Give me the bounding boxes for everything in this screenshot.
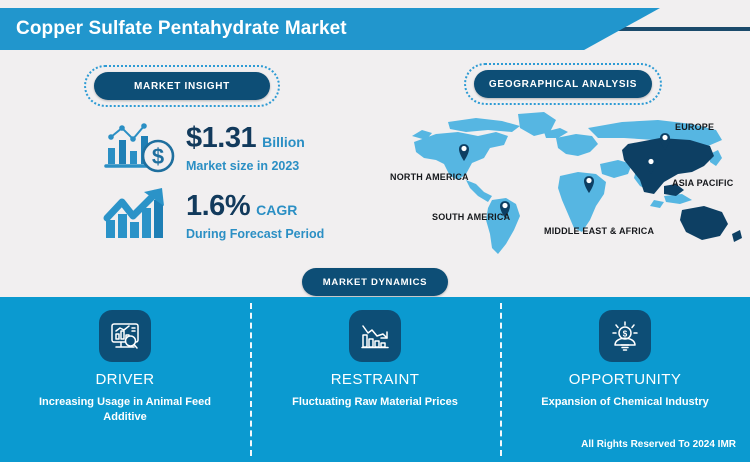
bar-chart-dollar-icon: $ <box>100 118 178 176</box>
footer-credit: All Rights Reserved To 2024 IMR <box>581 439 736 450</box>
geographical-analysis-pill: GEOGRAPHICAL ANALYSIS <box>474 70 652 98</box>
region-label-asia-pacific: ASIA PACIFIC <box>672 178 733 188</box>
geographical-analysis-header: GEOGRAPHICAL ANALYSIS <box>474 70 652 98</box>
restraint-title: RESTRAINT <box>331 371 420 388</box>
page-title: Copper Sulfate Pentahydrate Market <box>0 18 347 40</box>
market-insight-header: MARKET INSIGHT <box>94 72 270 100</box>
region-label-north-america: NORTH AMERICA <box>390 172 469 182</box>
svg-text:$: $ <box>623 330 628 339</box>
geographical-analysis-label: GEOGRAPHICAL ANALYSIS <box>489 79 637 90</box>
metric-cagr: 1.6% CAGR During Forecast Period <box>100 186 324 244</box>
cagr-caption: During Forecast Period <box>186 227 324 241</box>
market-size-caption: Market size in 2023 <box>186 159 305 173</box>
market-dynamics-label: MARKET DYNAMICS <box>323 277 427 288</box>
driver-title: DRIVER <box>95 371 154 388</box>
monitor-analysis-icon <box>99 310 151 362</box>
dynamics-column-driver: DRIVER Increasing Usage in Animal Feed A… <box>0 297 250 437</box>
restraint-description: Fluctuating Raw Material Prices <box>268 395 483 410</box>
market-insight-pill: MARKET INSIGHT <box>94 72 270 100</box>
market-size-unit: Billion <box>262 134 305 150</box>
dynamics-column-opportunity: $ OPPORTUNITY Expansion of Chemical Indu… <box>500 297 750 437</box>
growth-arrow-icon <box>100 186 178 244</box>
lightbulb-dollar-icon: $ <box>599 310 651 362</box>
market-size-value: $1.31 <box>186 122 256 155</box>
region-label-south-america: SOUTH AMERICA <box>432 212 510 222</box>
metric-cagr-text: 1.6% CAGR During Forecast Period <box>186 190 324 241</box>
svg-text:$: $ <box>152 144 164 169</box>
dynamics-column-restraint: RESTRAINT Fluctuating Raw Material Price… <box>250 297 500 437</box>
declining-chart-icon <box>349 310 401 362</box>
region-label-europe: EUROPE <box>675 122 714 132</box>
world-map: NORTH AMERICA SOUTH AMERICA MIDDLE EAST … <box>392 108 750 260</box>
header-banner: Copper Sulfate Pentahydrate Market <box>0 8 660 50</box>
driver-description: Increasing Usage in Animal Feed Additive <box>18 395 233 425</box>
opportunity-description: Expansion of Chemical Industry <box>518 395 733 410</box>
market-dynamics-pill: MARKET DYNAMICS <box>302 268 448 296</box>
metric-market-size-text: $1.31 Billion Market size in 2023 <box>186 122 305 173</box>
infographic-canvas: Copper Sulfate Pentahydrate Market MARKE… <box>0 0 750 462</box>
opportunity-title: OPPORTUNITY <box>569 371 681 388</box>
market-dynamics-band: DRIVER Increasing Usage in Animal Feed A… <box>0 297 750 462</box>
cagr-unit: CAGR <box>256 202 297 218</box>
market-dynamics-header: MARKET DYNAMICS <box>302 268 448 296</box>
region-label-middle-east-africa: MIDDLE EAST & AFRICA <box>544 226 654 236</box>
market-insight-label: MARKET INSIGHT <box>134 81 230 92</box>
metric-market-size: $ $1.31 Billion Market size in 2023 <box>100 118 305 176</box>
cagr-value: 1.6% <box>186 190 250 223</box>
